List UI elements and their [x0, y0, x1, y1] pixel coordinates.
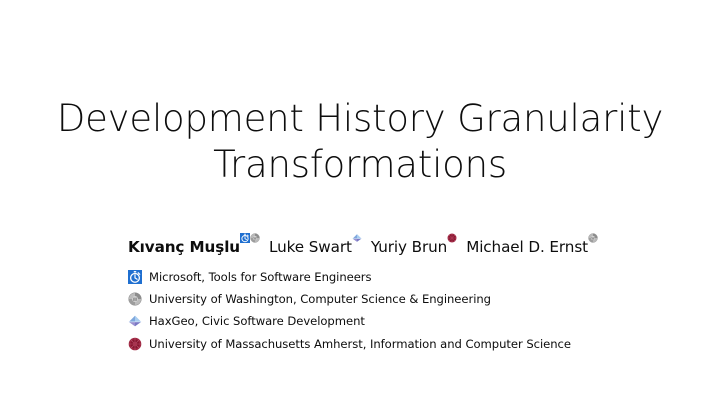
affiliation-row-microsoft: Microsoft, Tools for Software Engineers: [128, 266, 698, 288]
slide-canvas: Development History Granularity Transfor…: [0, 0, 720, 405]
haxgeo-icon: [352, 233, 362, 243]
author-name: Michael D. Ernst: [466, 238, 588, 256]
microsoft-icon: [240, 233, 250, 243]
author-affiliation-marks: W: [588, 229, 598, 249]
author-affiliation-marks: [352, 229, 362, 249]
author-name: Luke Swart: [269, 238, 352, 256]
author-yuriy-brun: Yuriy Brun: [371, 232, 457, 258]
author-affiliation-marks: [447, 229, 457, 249]
umass-icon: [447, 233, 457, 243]
uw-icon: W: [128, 292, 142, 306]
svg-text:W: W: [133, 297, 138, 303]
affiliation-row-umass: University of Massachusetts Amherst, Inf…: [128, 333, 698, 355]
affiliation-list: Microsoft, Tools for Software Engineers …: [128, 266, 698, 355]
uw-icon: W: [250, 233, 260, 243]
affiliation-text: HaxGeo, Civic Software Development: [149, 314, 365, 328]
umass-icon: [128, 337, 142, 351]
page-title: Development History Granularity Transfor…: [36, 96, 684, 188]
author-name: Kıvanç Muşlu: [128, 238, 240, 256]
affiliation-row-haxgeo: HaxGeo, Civic Software Development: [128, 310, 698, 332]
microsoft-icon: [128, 270, 142, 284]
author-kivanc-muslu: Kıvanç Muşlu W: [128, 232, 260, 258]
author-michael-d-ernst: Michael D. Ernst W: [466, 232, 598, 258]
haxgeo-icon: [128, 314, 142, 328]
title-line-2: Transformations: [36, 142, 684, 188]
uw-icon: W: [588, 233, 598, 243]
author-name: Yuriy Brun: [371, 238, 447, 256]
author-luke-swart: Luke Swart: [269, 232, 362, 258]
affiliation-row-uw: W University of Washington, Computer Sci…: [128, 288, 698, 310]
author-list: Kıvanç Muşlu W: [128, 232, 688, 254]
affiliation-text: Microsoft, Tools for Software Engineers: [149, 270, 372, 284]
affiliation-text: University of Washington, Computer Scien…: [149, 292, 491, 306]
author-affiliation-marks: W: [240, 229, 260, 249]
title-line-1: Development History Granularity: [36, 96, 684, 142]
affiliation-text: University of Massachusetts Amherst, Inf…: [149, 337, 571, 351]
